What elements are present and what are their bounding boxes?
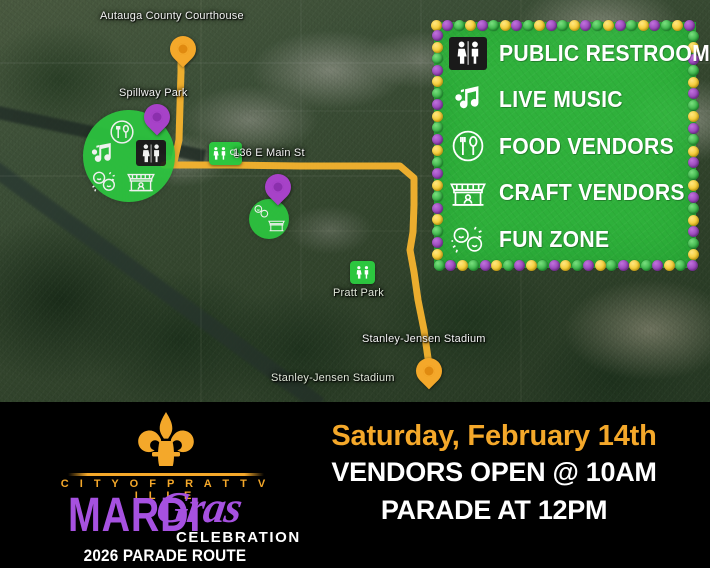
restroom-icon — [211, 145, 228, 162]
road-line — [0, 175, 460, 177]
event-date: Saturday, February 14th — [288, 418, 700, 454]
pin-center-dot — [423, 365, 435, 377]
restroom-icon-chip — [136, 140, 166, 166]
route-waypoint-pin-spillway[interactable] — [144, 104, 170, 138]
fun-zone-icon — [448, 220, 488, 258]
parade-end-pin[interactable] — [416, 358, 442, 392]
road-line — [200, 0, 202, 402]
logo-celebration-text: CELEBRATION — [176, 529, 301, 546]
music-icon — [448, 81, 488, 119]
restroom-chip-pratt-park[interactable] — [350, 261, 375, 284]
legend-label: PUBLIC RESTROOMS — [499, 42, 710, 65]
route-waypoint-pin-main[interactable] — [265, 174, 291, 208]
parade-time: PARADE AT 12PM — [288, 492, 700, 530]
legend-item-fun-zone: FUN ZONE — [448, 218, 690, 260]
map-label-stadium: Stanley-Jensen Stadium — [271, 372, 395, 384]
event-info-banner: C I T Y O F P R A T T V I L L E MARDI Gr… — [0, 402, 710, 568]
restroom-icon — [139, 143, 163, 164]
satellite-map[interactable]: Autauga County Courthouse Spillway Park … — [0, 0, 710, 402]
legend-item-craft-vendors: CRAFT VENDORS — [448, 172, 690, 214]
food-icon — [448, 127, 488, 165]
fun-zone-icon — [91, 168, 117, 194]
map-label-spillway: Spillway Park — [119, 87, 188, 99]
vendors-open-time: VENDORS OPEN @ 10AM — [288, 454, 700, 492]
map-label-courthouse: Autauga County Courthouse — [100, 10, 244, 22]
pin-center-dot — [151, 111, 163, 123]
map-label-pratt-park: Pratt Park — [333, 287, 384, 299]
road-line — [420, 0, 422, 340]
music-icon — [88, 140, 118, 170]
restroom-icon — [448, 34, 488, 72]
parade-start-pin[interactable] — [170, 36, 196, 70]
craft-vendor-icon — [448, 174, 488, 212]
legend-label: LIVE MUSIC — [499, 88, 623, 111]
map-label-stadium-road: Stanley-Jensen Stadium — [362, 333, 486, 345]
legend-label: FUN ZONE — [499, 228, 609, 251]
map-label-136-e-main: 136 E Main St — [233, 147, 305, 159]
craft-vendor-icon — [125, 168, 157, 194]
logo-route-subtitle: 2026 PARADE ROUTE AND MAP — [71, 546, 260, 568]
legend-label: FOOD VENDORS — [499, 135, 674, 158]
amenities-legend-panel: PUBLIC RESTROOMS LIVE MUSIC — [434, 22, 696, 268]
event-details-text: Saturday, February 14th VENDORS OPEN @ 1… — [288, 418, 700, 530]
logo-gras-text: Gras — [154, 486, 245, 530]
legend-label: CRAFT VENDORS — [499, 181, 685, 204]
pin-center-dot — [177, 43, 189, 55]
fleur-de-lis-icon — [128, 412, 204, 474]
restroom-icon — [354, 264, 371, 281]
craft-vendor-icon — [267, 217, 286, 233]
pin-center-dot — [272, 181, 284, 193]
mardi-gras-logo: C I T Y O F P R A T T V I L L E MARDI Gr… — [60, 410, 270, 562]
legend-item-live-music: LIVE MUSIC — [448, 79, 690, 121]
logo-divider-rule — [68, 473, 264, 476]
parade-route-poster: Autauga County Courthouse Spillway Park … — [0, 0, 710, 568]
legend-item-food-vendors: FOOD VENDORS — [448, 125, 690, 167]
legend-item-public-restrooms: PUBLIC RESTROOMS — [448, 32, 690, 74]
